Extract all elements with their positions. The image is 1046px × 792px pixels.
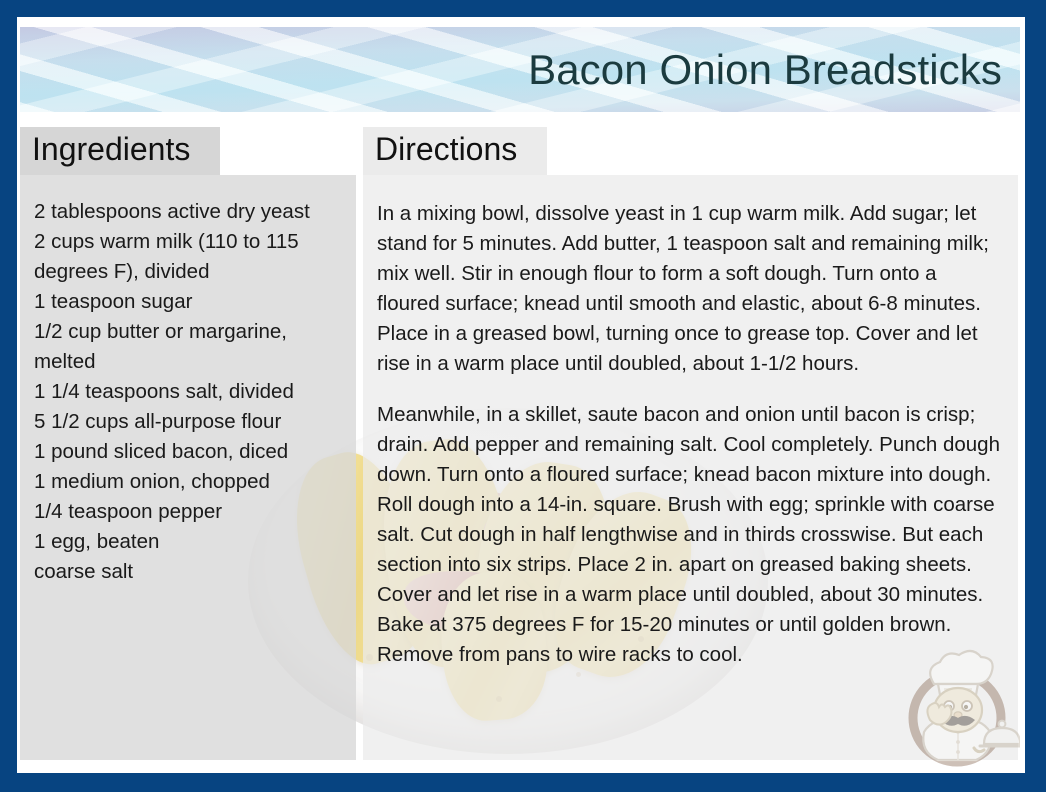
frame-bottom-edge bbox=[0, 773, 1046, 792]
frame-left-edge bbox=[0, 0, 17, 792]
recipe-card-slide: Bacon Onion Breadsticks Ingredients 2 ta… bbox=[0, 0, 1046, 792]
list-item: 1 1/4 teaspoons salt, divided bbox=[34, 377, 342, 407]
ingredients-column: Ingredients 2 tablespoons active dry yea… bbox=[20, 127, 356, 756]
directions-paragraph: Meanwhile, in a skillet, saute bacon and… bbox=[377, 400, 1004, 670]
list-item: 2 tablespoons active dry yeast bbox=[34, 197, 342, 227]
ingredients-list: 2 tablespoons active dry yeast 2 cups wa… bbox=[20, 175, 356, 760]
list-item: 2 cups warm milk (110 to 115 degrees F),… bbox=[34, 227, 342, 287]
list-item: 1 pound sliced bacon, diced bbox=[34, 437, 342, 467]
list-item: 1 medium onion, chopped bbox=[34, 467, 342, 497]
frame-right-edge bbox=[1025, 0, 1046, 792]
list-item: coarse salt bbox=[34, 557, 342, 587]
list-item: 1 egg, beaten bbox=[34, 527, 342, 557]
list-item: 5 1/2 cups all-purpose flour bbox=[34, 407, 342, 437]
list-item: 1 teaspoon sugar bbox=[34, 287, 342, 317]
list-item: 1/4 teaspoon pepper bbox=[34, 497, 342, 527]
list-item: 1/2 cup butter or margarine, melted bbox=[34, 317, 342, 377]
directions-paragraph: In a mixing bowl, dissolve yeast in 1 cu… bbox=[377, 199, 1004, 379]
chef-mascot-logo bbox=[894, 644, 1020, 770]
title-banner: Bacon Onion Breadsticks bbox=[20, 27, 1020, 112]
page-title: Bacon Onion Breadsticks bbox=[528, 47, 1002, 91]
frame-top-edge bbox=[0, 0, 1046, 17]
ingredients-heading: Ingredients bbox=[20, 127, 220, 175]
directions-heading: Directions bbox=[363, 127, 547, 175]
